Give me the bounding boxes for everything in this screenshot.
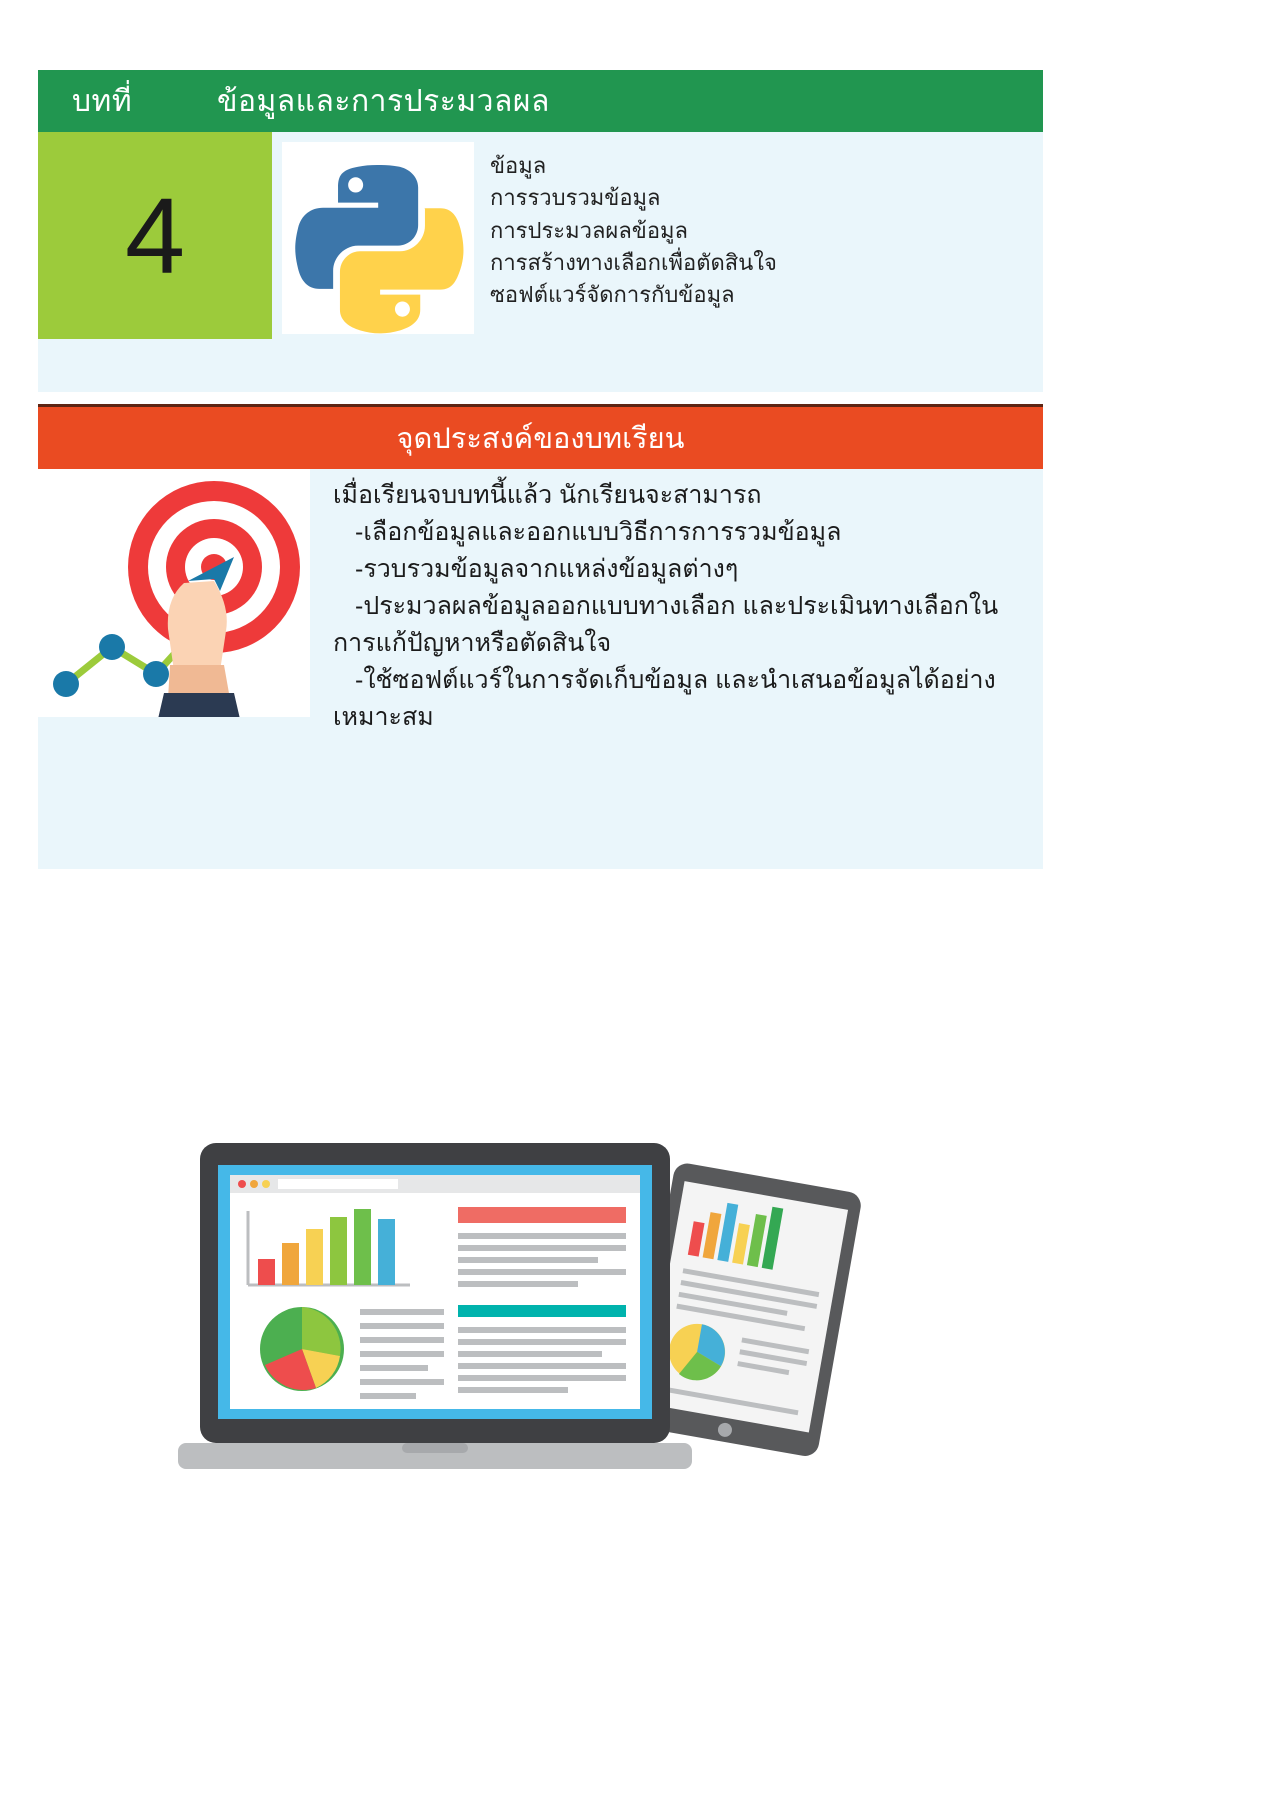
chapter-card: บทที่ ข้อมูลและการประมวลผล 4 ข้อมูล การร… (38, 70, 1043, 392)
objectives-header-bar: จุดประสงค์ของบทเรียน (38, 404, 1043, 469)
topic-item: ข้อมูล (490, 150, 777, 182)
objectives-text: เมื่อเรียนจบบทนี้แล้ว นักเรียนจะสามารถ -… (333, 477, 1023, 736)
topic-item: การประมวลผลข้อมูล (490, 215, 777, 247)
chapter-number: 4 (125, 182, 185, 290)
python-logo-icon (282, 142, 474, 334)
objective-item: -รวบรวมข้อมูลจากแหล่งข้อมูลต่างๆ (333, 551, 1023, 588)
chapter-title: ข้อมูลและการประมวลผล (217, 78, 550, 125)
chapter-header-bar: บทที่ ข้อมูลและการประมวลผล (38, 70, 1043, 132)
objective-item: -เลือกข้อมูลและออกแบบวิธีการการรวมข้อมูล (333, 514, 1023, 551)
chapter-label: บทที่ (72, 78, 217, 125)
target-dartboard-icon (38, 469, 310, 717)
objectives-heading: จุดประสงค์ของบทเรียน (397, 415, 685, 461)
objectives-intro: เมื่อเรียนจบบทนี้แล้ว นักเรียนจะสามารถ (333, 477, 1023, 514)
laptop-tablet-dashboard-icon (170, 1125, 890, 1505)
objective-item: -ใช้ซอฟต์แวร์ในการจัดเก็บข้อมูล และนำเสน… (333, 662, 1023, 699)
objectives-body: เมื่อเรียนจบบทนี้แล้ว นักเรียนจะสามารถ -… (38, 469, 1043, 869)
chapter-number-box: 4 (38, 132, 272, 339)
topic-item: การสร้างทางเลือกเพื่อตัดสินใจ (490, 247, 777, 279)
topic-item: การรวบรวมข้อมูล (490, 182, 777, 214)
topic-item: ซอฟต์แวร์จัดการกับข้อมูล (490, 279, 777, 311)
objective-item-cont: เหมาะสม (333, 699, 1023, 736)
objectives-card: จุดประสงค์ของบทเรียน (38, 404, 1043, 869)
chapter-topic-list: ข้อมูล การรวบรวมข้อมูล การประมวลผลข้อมูล… (490, 150, 777, 312)
objective-item-cont: การแก้ปัญหาหรือตัดสินใจ (333, 625, 1023, 662)
objective-item: -ประมวลผลข้อมูลออกแบบทางเลือก และประเมิน… (333, 588, 1023, 625)
chapter-body: 4 ข้อมูล การรวบรวมข้อมูล การประมวลผลข้อม… (38, 132, 1043, 392)
